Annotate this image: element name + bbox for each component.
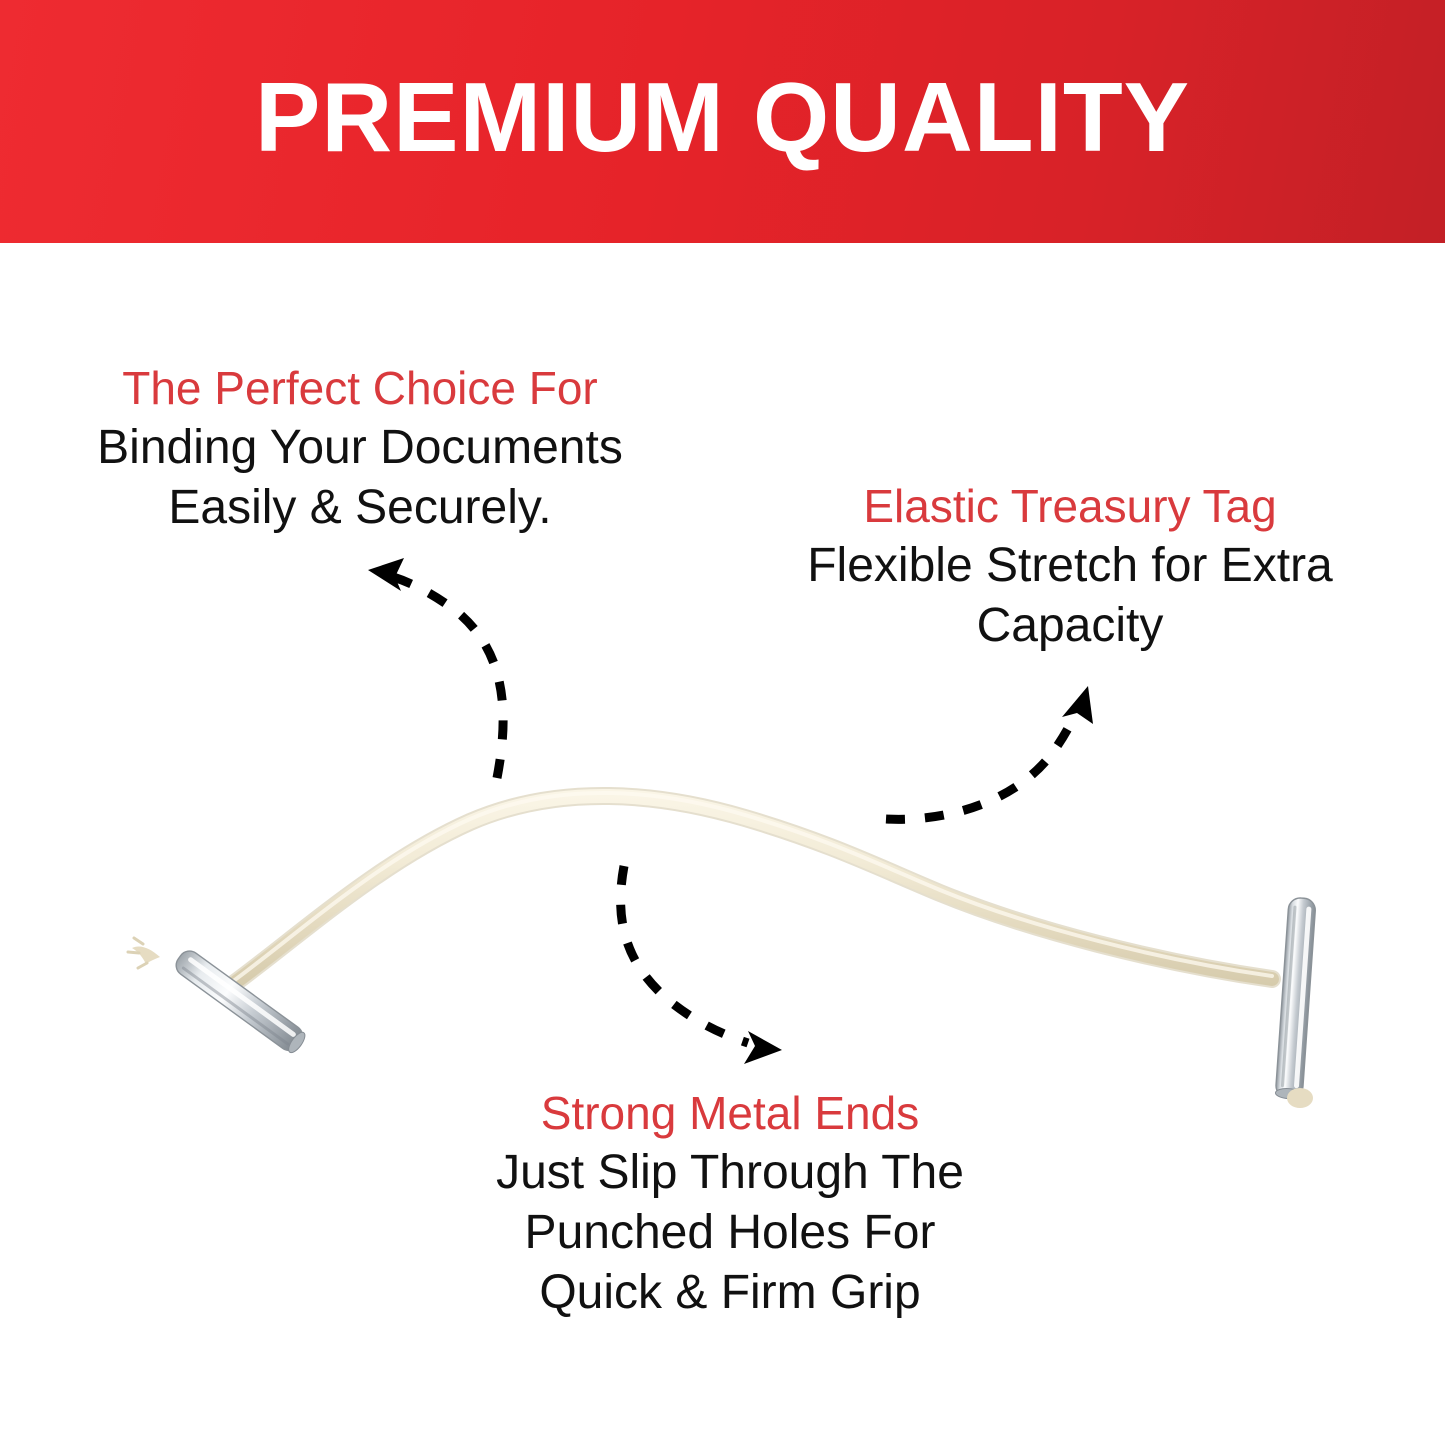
callout-elastic-line-2: Capacity [740, 596, 1400, 656]
callout-elastic: Elastic Treasury Tag Flexible Stretch fo… [740, 478, 1400, 656]
callout-metal-headline: Strong Metal Ends [430, 1085, 1030, 1141]
callout-metal: Strong Metal Ends Just Slip Through The … [430, 1085, 1030, 1323]
arrow-to-elastic-icon [886, 686, 1093, 819]
callout-binding-headline: The Perfect Choice For [30, 360, 690, 416]
arrow-to-metal-icon [621, 866, 782, 1064]
callout-binding-line-2: Easily & Securely. [30, 478, 690, 538]
callout-metal-line-3: Quick & Firm Grip [430, 1263, 1030, 1323]
infographic-page: PREMIUM QUALITY [0, 0, 1445, 1445]
callout-binding: The Perfect Choice For Binding Your Docu… [30, 360, 690, 538]
callout-binding-line-1: Binding Your Documents [30, 418, 690, 478]
callout-metal-line-1: Just Slip Through The [430, 1143, 1030, 1203]
callout-elastic-line-1: Flexible Stretch for Extra [740, 536, 1400, 596]
callout-metal-line-2: Punched Holes For [430, 1203, 1030, 1263]
arrow-to-binding-icon [368, 558, 503, 778]
callout-elastic-headline: Elastic Treasury Tag [740, 478, 1400, 534]
